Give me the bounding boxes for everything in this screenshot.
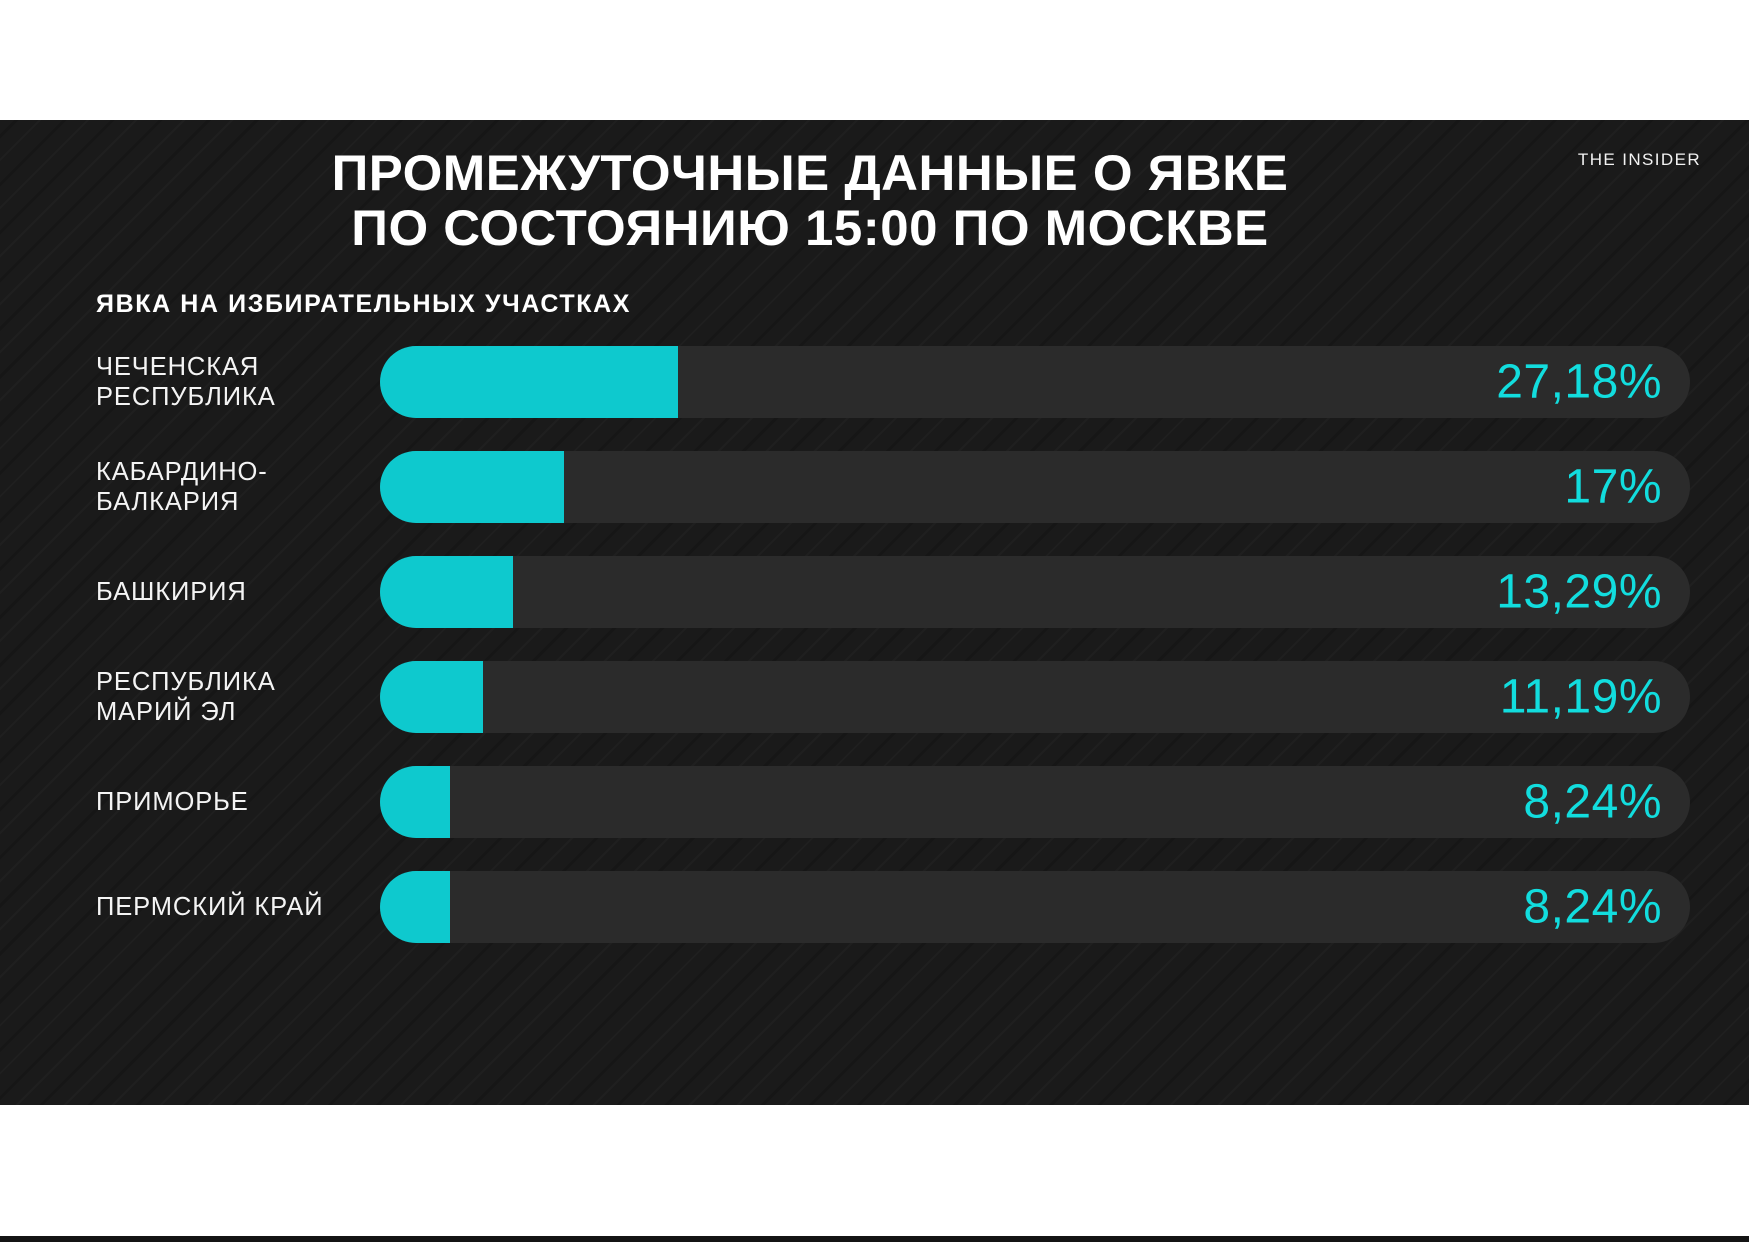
- bar-category-label: КАБАРДИНО-БАЛКАРИЯ: [96, 457, 386, 517]
- bar-fill: [380, 661, 483, 733]
- section-label: ЯВКА НА ИЗБИРАТЕЛЬНЫХ УЧАСТКАХ: [96, 290, 631, 319]
- bar-fill: [380, 766, 450, 838]
- chart-row: ПЕРМСКИЙ КРАЙ8,24%: [0, 855, 1749, 959]
- bar-track: [380, 556, 1690, 628]
- bar-fill: [380, 871, 450, 943]
- bar-track: [380, 451, 1690, 523]
- bar-fill: [380, 346, 678, 418]
- page-title: ПРОМЕЖУТОЧНЫЕ ДАННЫЕ О ЯВКЕ ПО СОСТОЯНИЮ…: [0, 146, 1636, 256]
- bar-category-label: ПРИМОРЬЕ: [96, 787, 386, 817]
- bar-chart: ЧЕЧЕНСКАЯ РЕСПУБЛИКА27,18%КАБАРДИНО-БАЛК…: [0, 330, 1749, 960]
- bar-track: [380, 871, 1690, 943]
- bar-track: [380, 346, 1690, 418]
- bar-fill: [380, 451, 564, 523]
- bar-category-label: ПЕРМСКИЙ КРАЙ: [96, 892, 386, 922]
- chart-row: КАБАРДИНО-БАЛКАРИЯ17%: [0, 435, 1749, 539]
- dark-panel: ПРОМЕЖУТОЧНЫЕ ДАННЫЕ О ЯВКЕ ПО СОСТОЯНИЮ…: [0, 120, 1749, 1105]
- bar-track: [380, 766, 1690, 838]
- bar-fill: [380, 556, 513, 628]
- bar-category-label: РЕСПУБЛИКА МАРИЙ ЭЛ: [96, 667, 386, 727]
- brand-logo: THE INSIDER: [1578, 150, 1701, 170]
- chart-row: БАШКИРИЯ13,29%: [0, 540, 1749, 644]
- chart-row: РЕСПУБЛИКА МАРИЙ ЭЛ11,19%: [0, 645, 1749, 749]
- bottom-strip: [0, 1236, 1749, 1242]
- chart-row: ПРИМОРЬЕ8,24%: [0, 750, 1749, 854]
- infographic-canvas: ПРОМЕЖУТОЧНЫЕ ДАННЫЕ О ЯВКЕ ПО СОСТОЯНИЮ…: [0, 0, 1749, 1242]
- bar-track: [380, 661, 1690, 733]
- bar-category-label: БАШКИРИЯ: [96, 577, 386, 607]
- bar-category-label: ЧЕЧЕНСКАЯ РЕСПУБЛИКА: [96, 352, 386, 412]
- chart-row: ЧЕЧЕНСКАЯ РЕСПУБЛИКА27,18%: [0, 330, 1749, 434]
